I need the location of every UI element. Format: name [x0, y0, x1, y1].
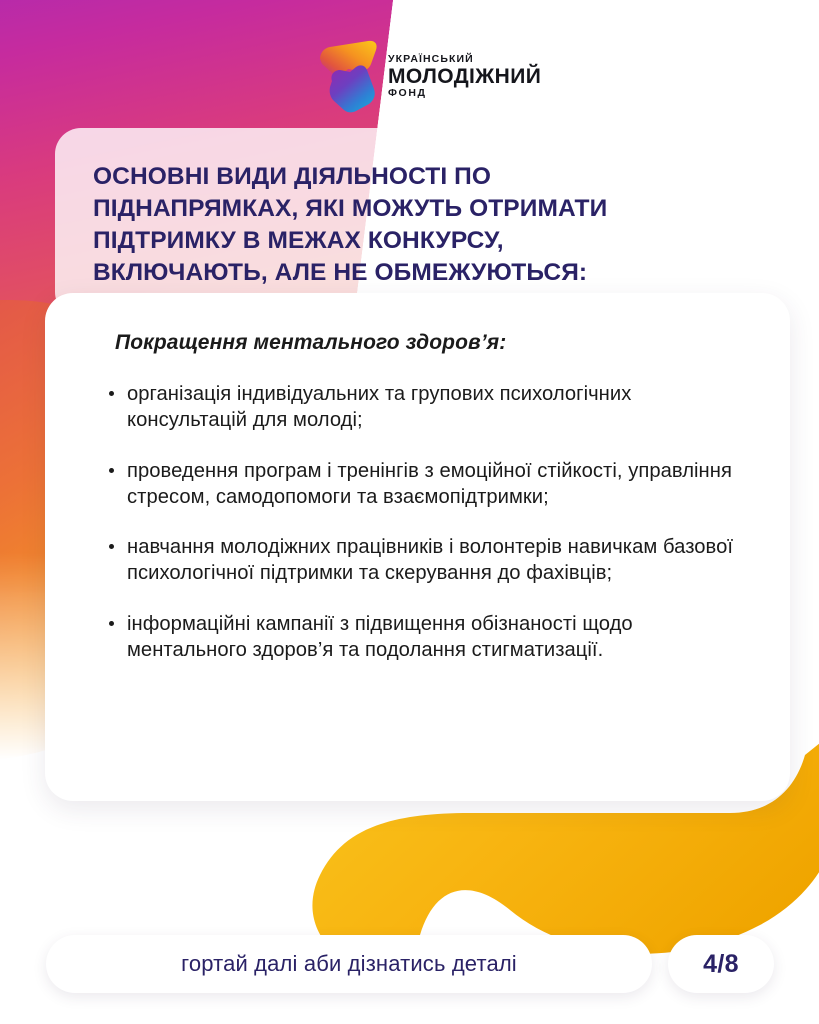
brand-logo: УКРАЇНСЬКИЙ МОЛОДІЖНИЙ ФОНД	[318, 36, 518, 116]
logo-line-top: УКРАЇНСЬКИЙ	[388, 54, 541, 65]
list-item: інформаційні кампанії з підвищення обізн…	[89, 611, 746, 664]
list-item-text: навчання молодіжних працівників і волонт…	[127, 536, 733, 584]
page-indicator-label: 4/8	[703, 950, 739, 979]
page-title: ОСНОВНІ ВИДИ ДІЯЛЬНОСТІ ПО ПІДНАПРЯМКАХ,…	[93, 161, 742, 288]
logo-line-main: МОЛОДІЖНИЙ	[388, 66, 541, 87]
list-item: навчання молодіжних працівників і волонт…	[89, 534, 746, 587]
bullet-dot-icon	[109, 468, 114, 473]
bullet-dot-icon	[109, 544, 114, 549]
content-card: Покращення ментального здоров’я: організ…	[45, 293, 790, 801]
swipe-next-button[interactable]: гортай далі аби дізнатись деталі	[46, 935, 652, 993]
bullet-dot-icon	[109, 391, 114, 396]
slide-root: УКРАЇНСЬКИЙ МОЛОДІЖНИЙ ФОНД ОСНОВНІ ВИДИ…	[0, 0, 819, 1024]
activity-bullet-list: організація індивідуальних та групових п…	[89, 381, 746, 663]
list-item: організація індивідуальних та групових п…	[89, 381, 746, 434]
heading-panel: ОСНОВНІ ВИДИ ДІЯЛЬНОСТІ ПО ПІДНАПРЯМКАХ,…	[55, 128, 780, 318]
card-subtitle: Покращення ментального здоров’я:	[115, 331, 746, 355]
slide-footer: гортай далі аби дізнатись деталі 4/8	[46, 935, 774, 993]
bullet-dot-icon	[109, 621, 114, 626]
list-item-text: інформаційні кампанії з підвищення обізн…	[127, 613, 633, 661]
logo-wordmark: УКРАЇНСЬКИЙ МОЛОДІЖНИЙ ФОНД	[388, 54, 541, 99]
page-indicator: 4/8	[668, 935, 774, 993]
logo-line-bottom: ФОНД	[388, 88, 541, 99]
list-item: проведення програм і тренінгів з емоційн…	[89, 458, 746, 511]
swipe-next-label: гортай далі аби дізнатись деталі	[181, 951, 517, 977]
list-item-text: організація індивідуальних та групових п…	[127, 383, 631, 431]
logo-mark-icon	[318, 39, 380, 113]
list-item-text: проведення програм і тренінгів з емоційн…	[127, 460, 732, 508]
